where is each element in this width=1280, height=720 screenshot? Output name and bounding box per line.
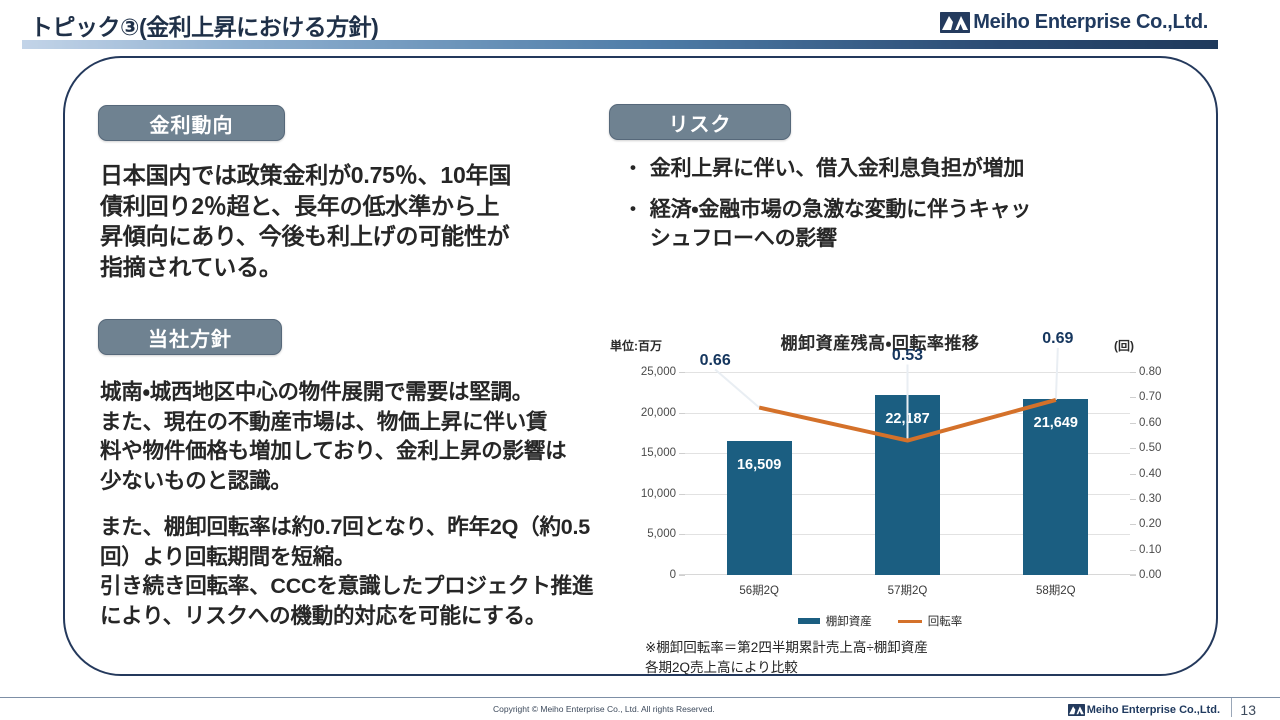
slide: トピック③(金利上昇における方針) Meiho Enterprise Co.,L… xyxy=(0,0,1280,720)
chart-plot-area: 05,00010,00015,00020,00025,0000.000.100.… xyxy=(685,372,1130,575)
chart-category-label: 57期2Q xyxy=(833,582,981,598)
inventory-turnover-chart: 単位:百万 棚卸資産残高・回転率推移 (回) 05,00010,00015,00… xyxy=(600,325,1200,655)
brand-logo: Meiho Enterprise Co.,Ltd. xyxy=(940,11,1208,34)
copyright-text: Copyright © Meiho Enterprise Co., Ltd. A… xyxy=(493,704,715,714)
chart-footnote: ※棚卸回転率＝第2四半期累計売上高÷棚卸資産 各期2Q売上高により比較 xyxy=(645,638,1165,677)
risk-item-text: 金利上昇に伴い、借入金利息負担が増加 xyxy=(650,155,1100,183)
chart-label-leader-line xyxy=(715,370,759,408)
chart-line-value-label: 0.69 xyxy=(1034,330,1082,348)
title-underline-bar xyxy=(22,40,1218,49)
meiho-mountain-icon xyxy=(1068,704,1085,716)
policy-body-text-2: また、棚卸回転率は約0.7回となり、昨年2Q（約0.5 回）より回転期間を短縮。… xyxy=(100,513,630,632)
chart-tick-mark xyxy=(1130,474,1136,475)
chart-y2-tick-label: 0.30 xyxy=(1139,493,1161,505)
chart-line-value-label: 0.66 xyxy=(691,352,739,370)
chart-tick-mark xyxy=(1130,499,1136,500)
policy-body-text-1: 城南・城西地区中心の物件展開で需要は堅調。 また、現在の不動産市場は、物価上昇に… xyxy=(100,378,630,497)
chart-line-series xyxy=(685,372,1130,575)
footer-brand-name: Meiho Enterprise Co.,Ltd. xyxy=(1087,704,1220,716)
chart-y-tick-label: 25,000 xyxy=(641,366,676,378)
legend-item-turnover: 回転率 xyxy=(898,613,963,629)
legend-label: 回転率 xyxy=(928,613,963,629)
page-title: トピック③(金利上昇における方針) xyxy=(30,8,378,42)
risk-bullet-list: • 金利上昇に伴い、借入金利息負担が増加 • 経済・金融市場の急激な変動に伴うキ… xyxy=(630,155,1100,266)
chart-tick-mark xyxy=(1130,448,1136,449)
section-pill-policy: 当社方針 xyxy=(98,319,282,355)
chart-tick-mark xyxy=(1130,550,1136,551)
legend-item-inventory: 棚卸資産 xyxy=(798,613,872,629)
risk-item-text: 経済・金融市場の急激な変動に伴うキャッ シュフローへの影響 xyxy=(650,196,1100,253)
chart-y2-tick-label: 0.80 xyxy=(1139,366,1161,378)
chart-y-tick-label: 20,000 xyxy=(641,407,676,419)
chart-y2-tick-label: 0.00 xyxy=(1139,569,1161,581)
chart-line-value-label: 0.53 xyxy=(884,347,932,365)
chart-tick-mark xyxy=(1130,524,1136,525)
rates-body-text: 日本国内では政策金利が0.75％、10年国 債利回り2％超と、長年の低水準から上… xyxy=(100,160,540,282)
footer-divider xyxy=(0,697,1280,698)
chart-legend: 棚卸資産 回転率 xyxy=(600,613,1160,629)
chart-tick-mark xyxy=(1130,372,1136,373)
section-pill-rates: 金利動向 xyxy=(98,105,285,141)
chart-category-label: 56期2Q xyxy=(685,582,833,598)
footer-brand-logo: Meiho Enterprise Co.,Ltd. xyxy=(1068,704,1220,716)
chart-tick-mark xyxy=(679,575,685,576)
chart-y-tick-label: 0 xyxy=(670,569,676,581)
meiho-mountain-icon xyxy=(940,12,970,33)
chart-tick-mark xyxy=(1130,397,1136,398)
chart-y-tick-label: 5,000 xyxy=(647,528,676,540)
bullet-marker-icon: • xyxy=(630,196,636,253)
chart-label-leader-line xyxy=(1056,348,1058,400)
chart-y2-tick-label: 0.50 xyxy=(1139,442,1161,454)
list-item: • 金利上昇に伴い、借入金利息負担が増加 xyxy=(630,155,1100,183)
chart-y2-tick-label: 0.70 xyxy=(1139,391,1161,403)
chart-unit-right: (回) xyxy=(1114,337,1134,354)
legend-label: 棚卸資産 xyxy=(826,613,872,629)
footer-page-divider xyxy=(1231,698,1232,717)
chart-category-label: 58期2Q xyxy=(982,582,1130,598)
chart-tick-mark xyxy=(1130,575,1136,576)
chart-y2-tick-label: 0.10 xyxy=(1139,544,1161,556)
chart-y-tick-label: 10,000 xyxy=(641,488,676,500)
chart-y-tick-label: 15,000 xyxy=(641,447,676,459)
bullet-marker-icon: • xyxy=(630,155,636,183)
list-item: • 経済・金融市場の急激な変動に伴うキャッ シュフローへの影響 xyxy=(630,196,1100,253)
chart-tick-mark xyxy=(1130,423,1136,424)
section-pill-risk: リスク xyxy=(609,104,791,140)
legend-bar-swatch-icon xyxy=(798,618,820,624)
brand-name: Meiho Enterprise Co.,Ltd. xyxy=(973,11,1208,34)
chart-y2-tick-label: 0.60 xyxy=(1139,417,1161,429)
chart-y2-tick-label: 0.20 xyxy=(1139,518,1161,530)
page-number: 13 xyxy=(1240,702,1256,718)
chart-y2-tick-label: 0.40 xyxy=(1139,468,1161,480)
legend-line-swatch-icon xyxy=(898,620,922,623)
